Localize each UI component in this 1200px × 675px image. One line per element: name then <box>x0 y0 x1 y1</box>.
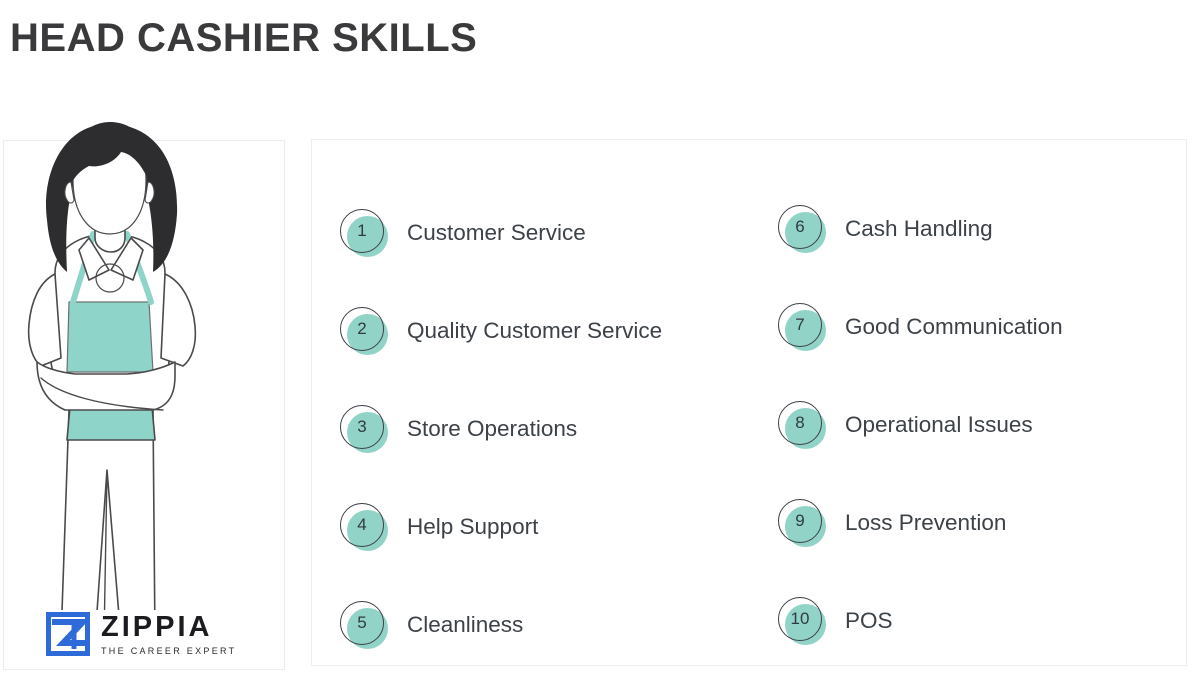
list-item[interactable]: 6 Cash Handling <box>778 180 1186 278</box>
skill-label: Good Communication <box>845 314 1063 340</box>
number-badge: 8 <box>778 401 826 449</box>
number-badge: 4 <box>340 503 388 551</box>
list-item[interactable]: 9 Loss Prevention <box>778 474 1186 572</box>
badge-number: 5 <box>340 601 384 645</box>
skill-label: POS <box>845 608 893 634</box>
skills-column-left: 1 Customer Service 2 Quality Customer Se… <box>312 140 749 665</box>
brand-name: ZIPPIA <box>101 613 212 642</box>
skills-column-right: 6 Cash Handling 7 Good Communication <box>749 140 1186 665</box>
badge-number: 2 <box>340 307 384 351</box>
zippia-logo-mark <box>46 612 90 656</box>
list-item[interactable]: 5 Cleanliness <box>340 576 749 674</box>
skill-label: Customer Service <box>407 220 586 246</box>
number-badge: 1 <box>340 209 388 257</box>
list-item[interactable]: 3 Store Operations <box>340 380 749 478</box>
skill-label: Loss Prevention <box>845 510 1006 536</box>
badge-number: 9 <box>778 499 822 543</box>
badge-number: 8 <box>778 401 822 445</box>
skill-label: Quality Customer Service <box>407 318 662 344</box>
badge-number: 1 <box>340 209 384 253</box>
skill-label: Cash Handling <box>845 216 993 242</box>
number-badge: 7 <box>778 303 826 351</box>
skill-label: Cleanliness <box>407 612 523 638</box>
badge-number: 4 <box>340 503 384 547</box>
number-badge: 6 <box>778 205 826 253</box>
page-title: HEAD CASHIER SKILLS <box>10 16 477 61</box>
number-badge: 3 <box>340 405 388 453</box>
zippia-logo[interactable]: ZIPPIA THE CAREER EXPERT <box>42 610 240 658</box>
number-badge: 10 <box>778 597 826 645</box>
skills-columns: 1 Customer Service 2 Quality Customer Se… <box>312 140 1186 665</box>
zippia-wordmark: ZIPPIA THE CAREER EXPERT <box>101 613 236 656</box>
list-item[interactable]: 10 POS <box>778 572 1186 670</box>
skill-label: Store Operations <box>407 416 577 442</box>
skill-label: Operational Issues <box>845 412 1033 438</box>
infographic-page: HEAD CASHIER SKILLS <box>0 0 1200 675</box>
brand-tagline: THE CAREER EXPERT <box>101 646 236 656</box>
skill-label: Help Support <box>407 514 538 540</box>
badge-number: 10 <box>778 597 822 641</box>
illustration-panel <box>3 140 285 670</box>
number-badge: 5 <box>340 601 388 649</box>
list-item[interactable]: 8 Operational Issues <box>778 376 1186 474</box>
list-item[interactable]: 7 Good Communication <box>778 278 1186 376</box>
badge-number: 7 <box>778 303 822 347</box>
skills-panel: 1 Customer Service 2 Quality Customer Se… <box>311 139 1187 666</box>
number-badge: 9 <box>778 499 826 547</box>
badge-number: 6 <box>778 205 822 249</box>
badge-number: 3 <box>340 405 384 449</box>
list-item[interactable]: 4 Help Support <box>340 478 749 576</box>
number-badge: 2 <box>340 307 388 355</box>
list-item[interactable]: 2 Quality Customer Service <box>340 282 749 380</box>
list-item[interactable]: 1 Customer Service <box>340 184 749 282</box>
